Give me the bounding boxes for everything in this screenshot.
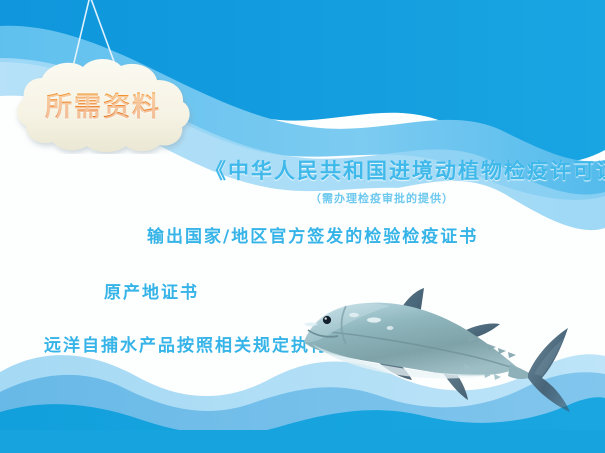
fish-eye xyxy=(323,316,331,324)
requirement-line-2: 输出国家/地区官方签发的检验检疫证书 xyxy=(147,222,478,247)
requirement-line-4: 远洋自捕水产品按照相关规定执行 xyxy=(44,331,329,356)
cloud-badge: 所需资料 xyxy=(8,58,198,154)
requirement-line-1-note: （需办理检疫审批的提供） xyxy=(310,190,454,206)
caudal-fin xyxy=(528,328,570,412)
requirement-line-1: 《中华人民共和国进境动植物检疫许可证》 xyxy=(205,155,605,185)
tuna-illustration xyxy=(296,282,586,417)
poster-canvas: 所需资料 《中华人民共和国进境动植物检疫许可证》 （需办理检疫审批的提供） 输出… xyxy=(0,0,605,453)
requirement-line-3: 原产地证书 xyxy=(104,278,199,303)
badge-title: 所需资料 xyxy=(8,85,198,124)
